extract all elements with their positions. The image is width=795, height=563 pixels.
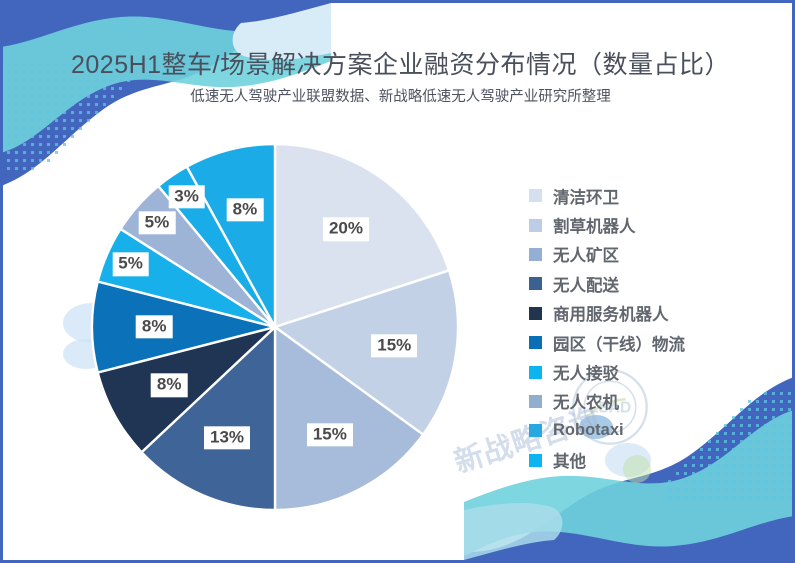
chart-title: 2025H1整车/场景解决方案企业融资分布情况（数量占比） — [3, 45, 795, 81]
legend-item[interactable]: 园区（干线）物流 — [529, 328, 779, 357]
legend-item-label: 割草机器人 — [553, 213, 636, 237]
legend-item[interactable]: 无人农机 — [529, 387, 779, 416]
legend-item[interactable]: 无人配送 — [529, 269, 779, 298]
chart-legend: 清洁环卫割草机器人无人矿区无人配送商用服务机器人园区（干线）物流无人接驳无人农机… — [529, 181, 779, 475]
legend-swatch-icon — [529, 454, 542, 467]
pie-slice-label: 15% — [371, 334, 417, 357]
legend-item[interactable]: 清洁环卫 — [529, 181, 779, 210]
legend-item-label: 无人农机 — [553, 389, 619, 413]
pie-slice-label: 20% — [323, 218, 369, 241]
legend-item-label: 无人配送 — [553, 272, 619, 296]
pie-slice-label: 8% — [136, 315, 173, 338]
chart-canvas: 2025H1整车/场景解决方案企业融资分布情况（数量占比） 低速无人驾驶产业联盟… — [0, 0, 795, 563]
pie-chart: 20%15%15%13%8%8%5%5%3%8% — [87, 139, 463, 515]
legend-item-label: 清洁环卫 — [553, 184, 619, 208]
legend-item-label: 无人接驳 — [553, 360, 619, 384]
legend-swatch-icon — [529, 336, 542, 349]
legend-swatch-icon — [529, 248, 542, 261]
legend-item-label: 园区（干线）物流 — [553, 331, 685, 355]
chart-subtitle: 低速无人驾驶产业联盟数据、新战略低速无人驾驶产业研究所整理 — [3, 85, 795, 106]
pie-slice-label: 3% — [168, 185, 205, 208]
legend-item-label: 商用服务机器人 — [553, 301, 669, 325]
legend-item[interactable]: Robotaxi — [529, 416, 779, 445]
legend-item-label: 其他 — [553, 448, 586, 472]
legend-item[interactable]: 商用服务机器人 — [529, 299, 779, 328]
legend-item[interactable]: 无人接驳 — [529, 357, 779, 386]
legend-item[interactable]: 无人矿区 — [529, 240, 779, 269]
pie-slice-label: 8% — [151, 373, 188, 396]
legend-item[interactable]: 其他 — [529, 446, 779, 475]
pie-slice-label: 13% — [204, 426, 250, 449]
legend-swatch-icon — [529, 219, 542, 232]
legend-swatch-icon — [529, 307, 542, 320]
legend-swatch-icon — [529, 395, 542, 408]
pie-slice-label: 15% — [307, 423, 353, 446]
legend-swatch-icon — [529, 424, 542, 437]
legend-item-label: 无人矿区 — [553, 242, 619, 266]
legend-item[interactable]: 割草机器人 — [529, 210, 779, 239]
legend-swatch-icon — [529, 366, 542, 379]
legend-swatch-icon — [529, 189, 542, 202]
legend-swatch-icon — [529, 277, 542, 290]
pie-slice-label: 5% — [139, 211, 176, 234]
pie-slice-label: 5% — [112, 253, 149, 276]
pie-slice-label: 8% — [227, 198, 264, 221]
legend-item-label: Robotaxi — [553, 421, 624, 440]
